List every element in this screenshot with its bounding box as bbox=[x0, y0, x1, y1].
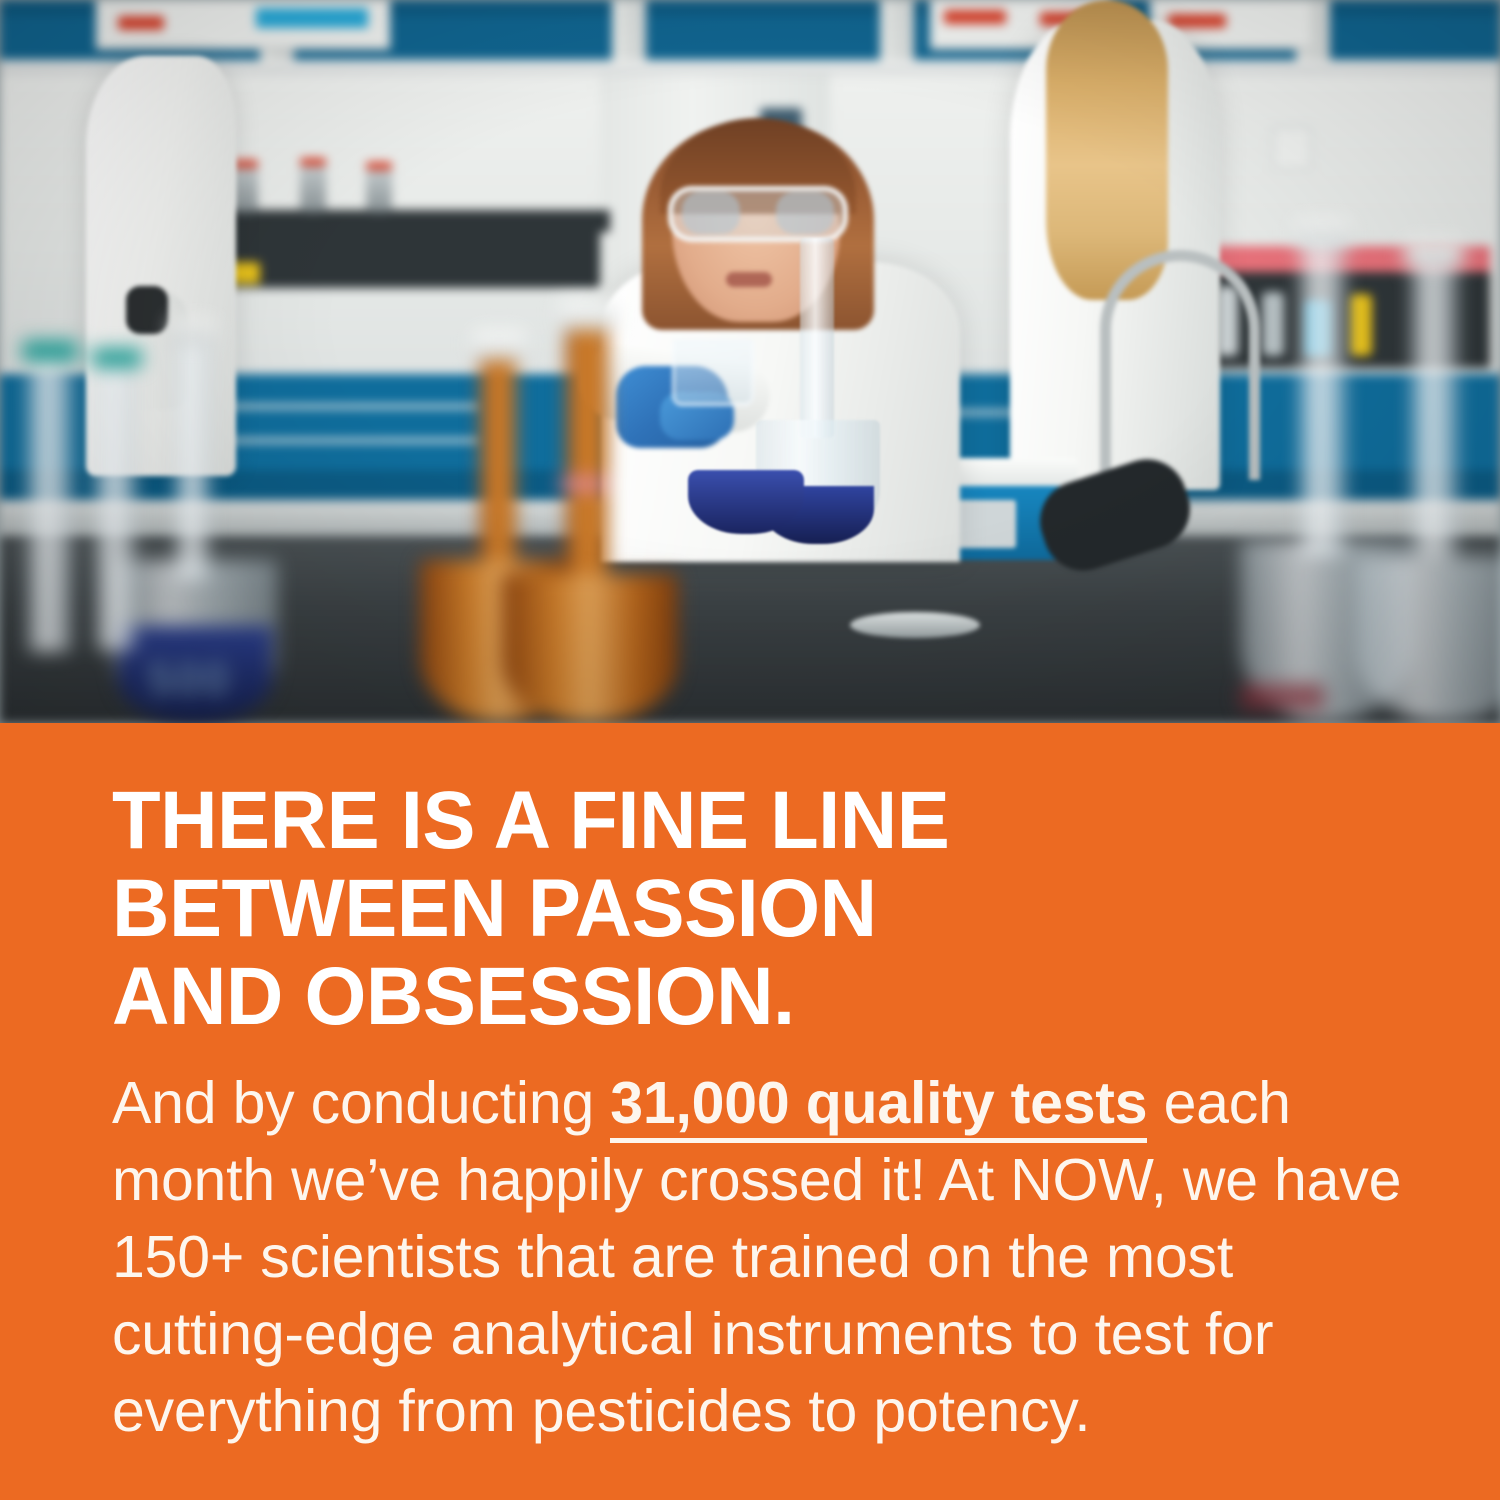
right-flask-2-body bbox=[1356, 556, 1500, 723]
headline-line-2: BETWEEN PASSION bbox=[112, 865, 1373, 953]
headline-line-1: THERE IS A FINE LINE bbox=[112, 777, 1373, 865]
photo-foreground-layer: 500 bbox=[0, 0, 1500, 723]
body-paragraph: And by conducting 31,000 quality tests e… bbox=[112, 1065, 1402, 1450]
flask-500-label: 500 bbox=[148, 652, 231, 706]
amber-flask-1-neck bbox=[480, 350, 516, 580]
cylinder-far-left-cap bbox=[22, 340, 78, 362]
amber-flask-2-neck bbox=[566, 318, 608, 580]
cylinder-left-2 bbox=[96, 360, 136, 650]
lab-photo: 500 bbox=[0, 0, 1500, 723]
amber-flask-2-label-band bbox=[560, 476, 606, 492]
cylinder-left-2-cap bbox=[92, 348, 142, 368]
amber-flask-2-cap bbox=[558, 300, 616, 330]
cylinder-far-left bbox=[28, 352, 72, 652]
body-text-before: And by conducting bbox=[112, 1070, 610, 1136]
right-flask-1-neck bbox=[1300, 236, 1346, 556]
right-flask-liquid bbox=[1240, 684, 1324, 710]
right-flask-2-cap bbox=[1404, 238, 1464, 268]
stat-quality-tests: 31,000 quality tests bbox=[610, 1070, 1147, 1143]
flask-500-cap bbox=[170, 318, 216, 344]
right-flask-2-neck bbox=[1412, 256, 1458, 556]
orange-text-panel: THERE IS A FINE LINE BETWEEN PASSION AND… bbox=[0, 723, 1500, 1500]
amber-flask-2-body bbox=[502, 574, 678, 723]
flask-500-neck bbox=[176, 330, 210, 580]
amber-flask-1-cap bbox=[472, 330, 526, 360]
page-title: THERE IS A FINE LINE BETWEEN PASSION AND… bbox=[112, 777, 1373, 1041]
headline-line-3: AND OBSESSION. bbox=[112, 953, 1373, 1041]
right-flask-1-cap bbox=[1294, 218, 1352, 248]
marketing-poster: 500 THERE IS A bbox=[0, 0, 1500, 1500]
